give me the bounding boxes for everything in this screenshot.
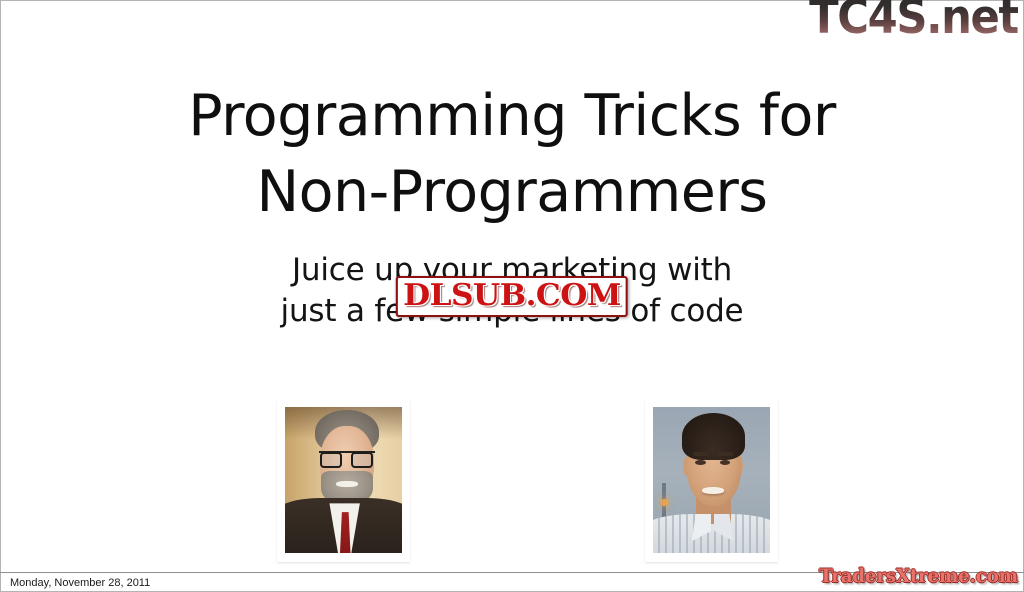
- portrait-eye-left: [695, 460, 706, 465]
- speaker-photo-right: [645, 400, 778, 562]
- portrait-image-left: [285, 407, 402, 553]
- slide-title: Programming Tricks for Non-Programmers: [0, 78, 1024, 230]
- dlsub-watermark: DLSUB.COM: [396, 276, 628, 317]
- footer-date: Monday, November 28, 2011: [10, 576, 150, 590]
- speaker-photo-left: [277, 400, 410, 562]
- portrait-mouth: [702, 487, 724, 494]
- title-line-2: Non-Programmers: [0, 154, 1024, 230]
- portrait-brow-right: [717, 452, 732, 456]
- tradersxtreme-watermark: TradersXtreme.com: [819, 564, 1018, 588]
- portrait-eye-right: [720, 460, 731, 465]
- background-light-1: [661, 499, 668, 506]
- portrait-image-right: [653, 407, 770, 553]
- glasses-lens-right: [351, 452, 373, 468]
- title-line-1: Programming Tricks for: [0, 78, 1024, 154]
- glasses-lens-left: [320, 452, 342, 468]
- portrait-mouth: [336, 481, 357, 488]
- presentation-slide: TC4S.net Programming Tricks for Non-Prog…: [0, 0, 1024, 592]
- portrait-brow-left: [693, 452, 708, 456]
- portrait-hair: [682, 413, 745, 460]
- brand-logo-tc4s: TC4S.net: [809, 0, 1018, 41]
